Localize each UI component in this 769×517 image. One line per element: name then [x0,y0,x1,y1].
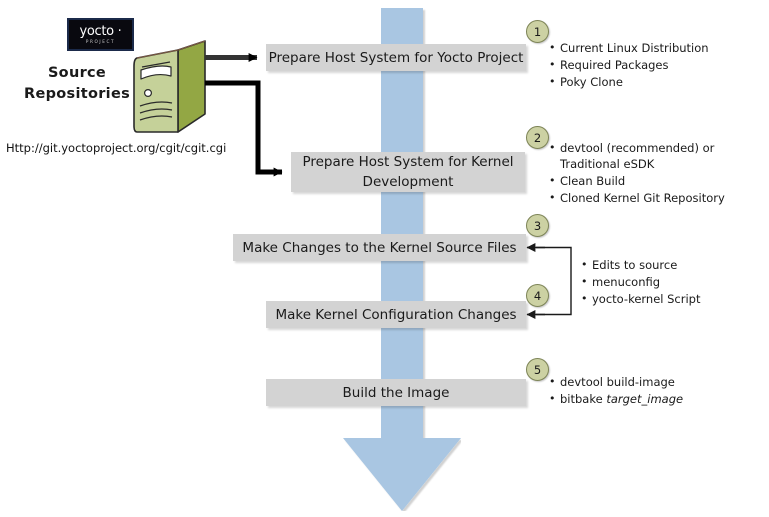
bitbake-target-argument: target_image [606,392,683,406]
step-2-notes: devtool (recommended) or Traditional eSD… [548,140,732,207]
step-1-notes: Current Linux Distribution Required Pack… [548,40,709,91]
source-repository-url[interactable]: Http://git.yoctoproject.org/cgit/cgit.cg… [6,141,226,155]
step-1-number: 1 [534,25,541,39]
process-box-3-label: Make Changes to the Kernel Source Files [242,238,516,258]
list-item: Clean Build [560,173,732,189]
step-number-circle-1: 1 [526,20,549,43]
process-box-5-label: Build the Image [343,383,450,403]
list-item: Edits to source [592,257,701,273]
connector-server-to-step2 [205,83,282,172]
step-5-notes: devtool build-image bitbake target_image [548,374,683,408]
process-box-prepare-host-yocto[interactable]: Prepare Host System for Yocto Project [266,44,526,71]
process-box-make-config-changes[interactable]: Make Kernel Configuration Changes [266,301,526,328]
source-repositories-label: Source Repositories [18,63,136,105]
server-tower-icon [131,36,207,140]
process-box-4-label: Make Kernel Configuration Changes [275,305,516,325]
list-item: devtool (recommended) or Traditional eSD… [560,140,732,172]
bitbake-command: bitbake [560,392,606,406]
step-3-number: 3 [534,219,541,233]
list-item: devtool build-image [560,374,683,390]
process-box-build-image[interactable]: Build the Image [266,379,526,406]
list-item: Required Packages [560,57,709,73]
step-number-circle-2: 2 [526,126,549,149]
step-number-circle-4: 4 [526,284,549,307]
yocto-logo-wordmark: yocto · [79,25,121,38]
list-item: Poky Clone [560,74,709,90]
step-3-and-4-shared-notes: Edits to source menuconfig yocto-kernel … [580,257,701,308]
step-2-number: 2 [534,131,541,145]
list-item: yocto-kernel Script [592,291,701,307]
step-number-circle-3: 3 [526,214,549,237]
list-item: menuconfig [592,274,701,290]
process-box-make-source-changes[interactable]: Make Changes to the Kernel Source Files [233,234,526,261]
list-item: Cloned Kernel Git Repository [560,190,732,206]
source-label-line2: Repositories [18,84,136,105]
list-item: Current Linux Distribution [560,40,709,56]
process-box-1-label: Prepare Host System for Yocto Project [269,48,524,68]
step-number-circle-5: 5 [526,358,549,381]
yocto-project-logo: yocto · PROJECT [67,18,134,51]
step-5-number: 5 [534,363,541,377]
list-item: bitbake target_image [560,391,683,407]
yocto-logo-subtitle: PROJECT [86,40,115,44]
process-box-2-label: Prepare Host System for Kernel Developme… [291,152,525,192]
step-4-number: 4 [534,289,541,303]
process-box-prepare-host-kernel[interactable]: Prepare Host System for Kernel Developme… [291,152,525,192]
source-label-line1: Source [18,63,136,84]
